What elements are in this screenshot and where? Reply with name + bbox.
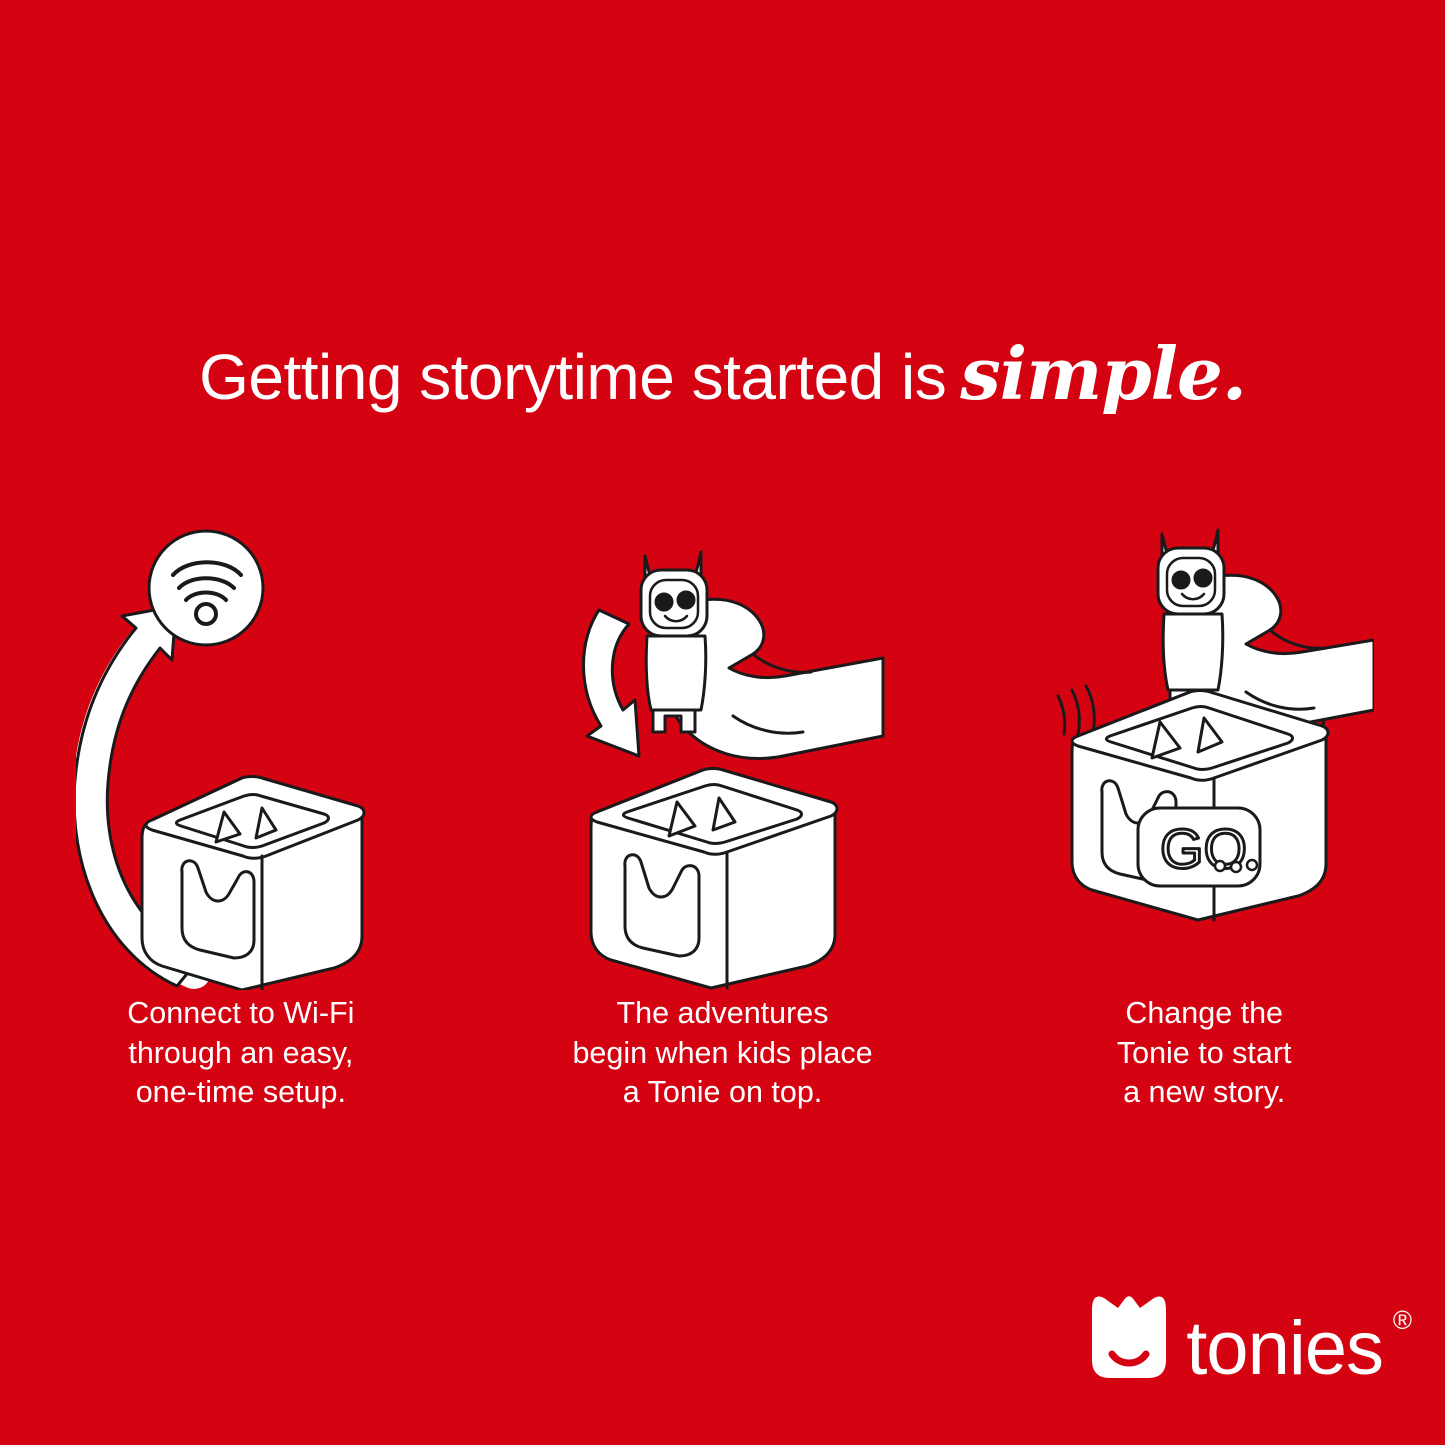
tonies-wordmark-text: tonies xyxy=(1186,1306,1383,1391)
step-wifi-caption: Connect to Wi-Fi through an easy, one-ti… xyxy=(127,994,354,1113)
step-change-tonie-caption: Change the Tonie to start a new story. xyxy=(1117,994,1292,1113)
page-title: Getting storytime started issimple. xyxy=(0,338,1445,410)
toniebox: GO xyxy=(1072,691,1328,921)
registered-trademark-icon: ® xyxy=(1393,1307,1411,1333)
step-change-tonie: GO Change the Tonie to start a new story… xyxy=(963,520,1445,1120)
step-place-tonie-caption: The adventures begin when kids place a T… xyxy=(572,994,872,1113)
headline-lead: Getting storytime started is xyxy=(199,341,946,413)
down-arrow-icon xyxy=(583,610,639,756)
step-place-tonie-illustration xyxy=(482,520,964,990)
tonie-figure xyxy=(1158,530,1224,710)
poster-canvas: Getting storytime started issimple. xyxy=(0,0,1445,1445)
steps-row: Connect to Wi-Fi through an easy, one-ti… xyxy=(0,520,1445,1120)
tonies-cat-icon xyxy=(1088,1292,1170,1385)
motion-lines-left xyxy=(1058,686,1094,734)
go-speech-bubble: GO xyxy=(1138,808,1260,886)
step-wifi-illustration xyxy=(0,520,482,990)
wifi-badge xyxy=(149,531,263,645)
tonies-wordmark: tonies ® xyxy=(1186,1313,1383,1385)
tonie-figure xyxy=(641,552,707,732)
step-change-tonie-illustration: GO xyxy=(963,520,1445,990)
tonies-logo: tonies ® xyxy=(1088,1292,1383,1385)
step-wifi: Connect to Wi-Fi through an easy, one-ti… xyxy=(0,520,482,1120)
step-place-tonie: The adventures begin when kids place a T… xyxy=(482,520,964,1120)
headline-emphasis: simple. xyxy=(960,331,1246,416)
toniebox xyxy=(142,777,364,991)
toniebox xyxy=(591,769,837,989)
